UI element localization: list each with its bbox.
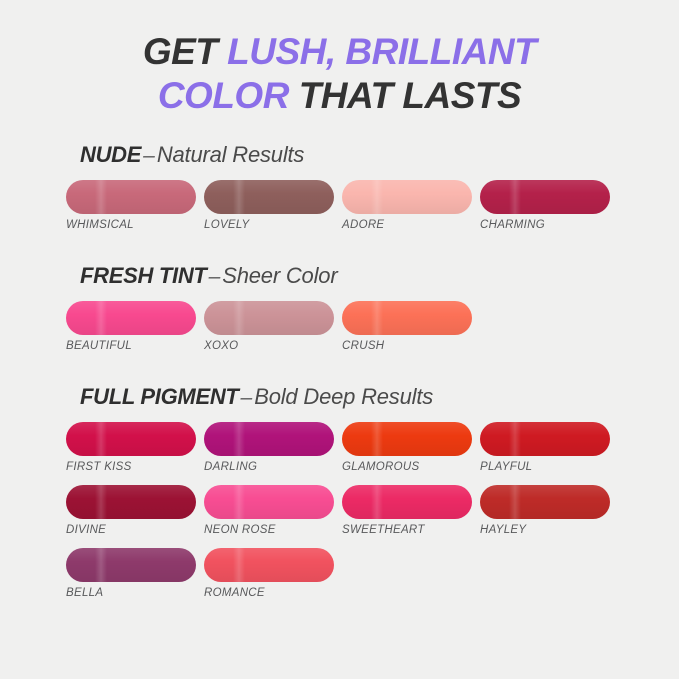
swatch-label-crush: CRUSH xyxy=(342,340,477,352)
page-headline: GET LUSH, BRILLIANT COLOR THAT LASTS xyxy=(0,0,679,118)
swatch-color-beautiful[interactable] xyxy=(66,301,196,335)
swatch-color-hayley[interactable] xyxy=(480,485,610,519)
section-nude-dash: – xyxy=(141,144,157,167)
section-fresh-tint-swatch-grid: BEAUTIFUL XOXO CRUSH xyxy=(66,301,621,362)
swatch-label-adore: ADORE xyxy=(342,219,477,231)
swatch-color-xoxo[interactable] xyxy=(204,301,334,335)
swatch-label-first-kiss: FIRST KISS xyxy=(66,461,201,473)
swatch-color-romance[interactable] xyxy=(204,548,334,582)
section-full-pigment-swatch-grid: FIRST KISS DARLING GLAMOROUS PLAYFUL DIV… xyxy=(66,422,621,609)
section-fresh-tint-heading: FRESH TINT–Sheer Color xyxy=(80,263,679,289)
section-full-pigment-subtitle: Bold Deep Results xyxy=(254,384,433,409)
section-full-pigment-title: FULL PIGMENT xyxy=(80,384,239,409)
swatch-label-neon-rose: NEON ROSE xyxy=(204,524,339,536)
swatch-item-glamorous[interactable]: GLAMOROUS xyxy=(342,422,477,473)
shade-guide-page: GET LUSH, BRILLIANT COLOR THAT LASTS NUD… xyxy=(0,0,679,679)
swatch-item-beautiful[interactable]: BEAUTIFUL xyxy=(66,301,201,352)
swatch-color-darling[interactable] xyxy=(204,422,334,456)
swatch-item-sweetheart[interactable]: SWEETHEART xyxy=(342,485,477,536)
swatch-label-romance: ROMANCE xyxy=(204,587,339,599)
swatch-color-whimsical[interactable] xyxy=(66,180,196,214)
swatch-label-playful: PLAYFUL xyxy=(480,461,615,473)
section-nude-heading: NUDE–Natural Results xyxy=(80,142,679,168)
shade-sections: NUDE–Natural Results WHIMSICAL LOVELY AD… xyxy=(0,118,679,609)
swatch-item-hayley[interactable]: HAYLEY xyxy=(480,485,615,536)
swatch-label-divine: DIVINE xyxy=(66,524,201,536)
swatch-label-glamorous: GLAMOROUS xyxy=(342,461,477,473)
section-fresh-tint: FRESH TINT–Sheer Color BEAUTIFUL XOXO CR… xyxy=(0,263,679,362)
section-nude-subtitle: Natural Results xyxy=(157,142,304,167)
headline-words-lush-brilliant: LUSH, BRILLIANT xyxy=(227,31,536,72)
headline-words-that-lasts: THAT LASTS xyxy=(289,75,521,116)
section-nude-swatch-grid: WHIMSICAL LOVELY ADORE CHARMING xyxy=(66,180,621,241)
headline-line-2: COLOR THAT LASTS xyxy=(60,74,619,118)
swatch-color-charming[interactable] xyxy=(480,180,610,214)
swatch-item-darling[interactable]: DARLING xyxy=(204,422,339,473)
headline-word-color: COLOR xyxy=(158,75,289,116)
swatch-color-sweetheart[interactable] xyxy=(342,485,472,519)
swatch-item-divine[interactable]: DIVINE xyxy=(66,485,201,536)
swatch-label-hayley: HAYLEY xyxy=(480,524,615,536)
swatch-label-beautiful: BEAUTIFUL xyxy=(66,340,201,352)
swatch-color-neon-rose[interactable] xyxy=(204,485,334,519)
swatch-item-romance[interactable]: ROMANCE xyxy=(204,548,339,599)
swatch-color-bella[interactable] xyxy=(66,548,196,582)
swatch-item-playful[interactable]: PLAYFUL xyxy=(480,422,615,473)
swatch-item-xoxo[interactable]: XOXO xyxy=(204,301,339,352)
swatch-item-bella[interactable]: BELLA xyxy=(66,548,201,599)
swatch-label-sweetheart: SWEETHEART xyxy=(342,524,477,536)
swatch-label-bella: BELLA xyxy=(66,587,201,599)
swatch-label-lovely: LOVELY xyxy=(204,219,339,231)
section-fresh-tint-dash: – xyxy=(207,265,223,288)
section-full-pigment: FULL PIGMENT–Bold Deep Results FIRST KIS… xyxy=(0,384,679,609)
swatch-color-glamorous[interactable] xyxy=(342,422,472,456)
swatch-item-neon-rose[interactable]: NEON ROSE xyxy=(204,485,339,536)
swatch-item-charming[interactable]: CHARMING xyxy=(480,180,615,231)
swatch-color-adore[interactable] xyxy=(342,180,472,214)
section-nude-title: NUDE xyxy=(80,142,141,167)
swatch-color-first-kiss[interactable] xyxy=(66,422,196,456)
swatch-label-whimsical: WHIMSICAL xyxy=(66,219,201,231)
section-full-pigment-dash: – xyxy=(239,386,255,409)
section-fresh-tint-subtitle: Sheer Color xyxy=(222,263,337,288)
swatch-item-whimsical[interactable]: WHIMSICAL xyxy=(66,180,201,231)
swatch-item-adore[interactable]: ADORE xyxy=(342,180,477,231)
section-full-pigment-heading: FULL PIGMENT–Bold Deep Results xyxy=(80,384,679,410)
headline-word-get: GET xyxy=(143,31,227,72)
swatch-item-first-kiss[interactable]: FIRST KISS xyxy=(66,422,201,473)
swatch-color-crush[interactable] xyxy=(342,301,472,335)
swatch-item-lovely[interactable]: LOVELY xyxy=(204,180,339,231)
section-nude: NUDE–Natural Results WHIMSICAL LOVELY AD… xyxy=(0,142,679,241)
section-fresh-tint-title: FRESH TINT xyxy=(80,263,207,288)
headline-line-1: GET LUSH, BRILLIANT xyxy=(60,30,619,74)
swatch-label-darling: DARLING xyxy=(204,461,339,473)
swatch-color-playful[interactable] xyxy=(480,422,610,456)
swatch-color-divine[interactable] xyxy=(66,485,196,519)
swatch-label-charming: CHARMING xyxy=(480,219,615,231)
swatch-color-lovely[interactable] xyxy=(204,180,334,214)
swatch-label-xoxo: XOXO xyxy=(204,340,339,352)
swatch-item-crush[interactable]: CRUSH xyxy=(342,301,477,352)
